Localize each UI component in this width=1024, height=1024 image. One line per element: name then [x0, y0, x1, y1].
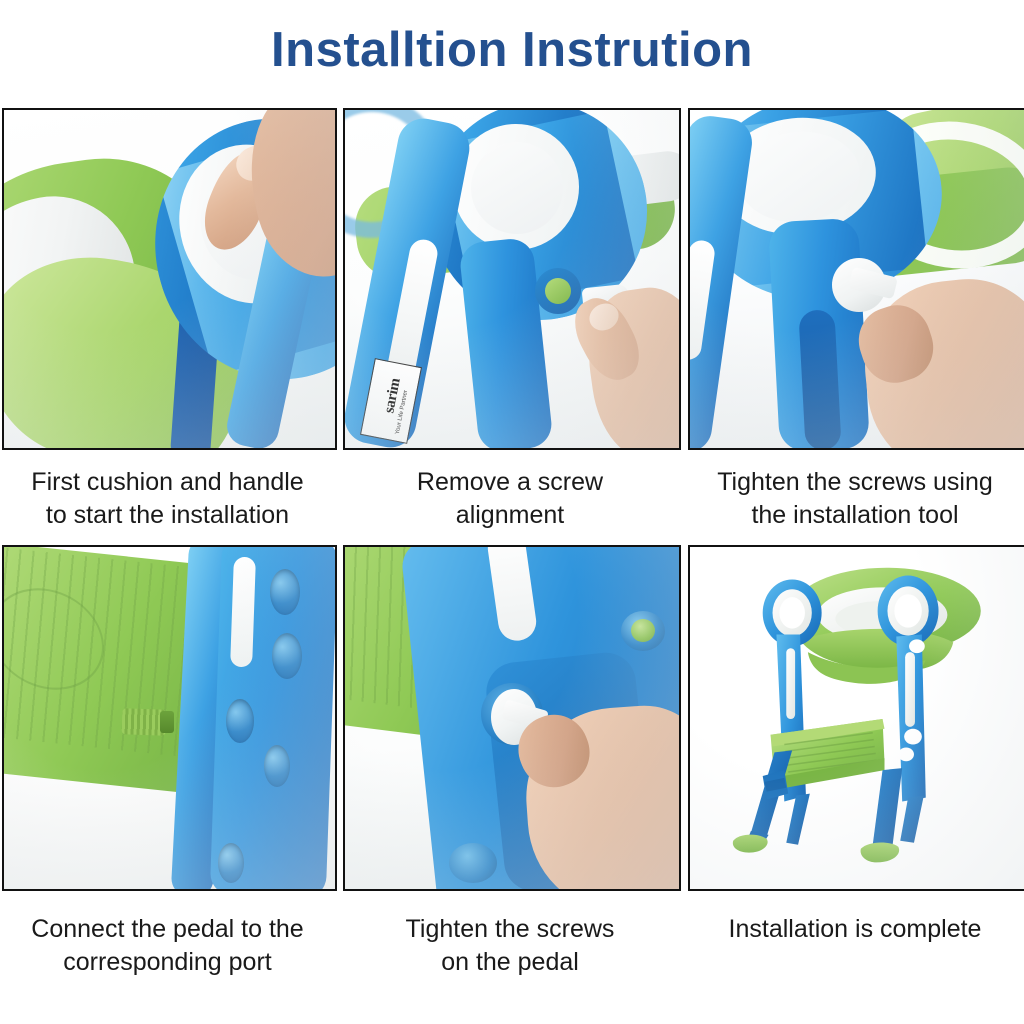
step-4-photo [2, 545, 337, 891]
mounting-port [270, 569, 300, 615]
step-6-caption: Installation is complete [688, 913, 1022, 946]
steps-row-1: First cushion and handle to start the in… [0, 108, 1024, 532]
page-title: Installtion Instrution [0, 0, 1024, 75]
step-6: Installation is complete [682, 545, 1024, 979]
step-3: Tighten the screws using the installatio… [682, 108, 1024, 532]
mounting-port [272, 633, 302, 679]
step-3-caption: Tighten the screws using the installatio… [688, 466, 1022, 532]
screw-port [449, 843, 497, 883]
step-5-caption-line-1: Tighten the screws [353, 913, 667, 946]
mounting-port [226, 699, 254, 743]
step-3-caption-line-2: the installation tool [698, 499, 1012, 532]
step-3-photo [688, 108, 1024, 450]
steps-row-2: Connect the pedal to the corresponding p… [0, 545, 1024, 979]
white-leg-groove [230, 557, 256, 668]
step-5-photo [343, 545, 681, 891]
steps-grid: First cushion and handle to start the in… [0, 108, 1024, 979]
step-2-caption-line-1: Remove a screw [353, 466, 667, 499]
assembled-product-illustration [690, 547, 1024, 889]
step-5-caption-line-2: on the pedal [353, 946, 667, 979]
step-1-caption-line-2: to start the installation [12, 499, 323, 532]
green-grommet [631, 619, 655, 642]
step-2: sarim Your Life Partner Remove a screw a… [336, 108, 682, 532]
step-2-caption-line-2: alignment [353, 499, 667, 532]
step-6-photo [688, 545, 1024, 891]
step-5-caption: Tighten the screws on the pedal [343, 913, 677, 979]
step-2-photo: sarim Your Life Partner [343, 108, 681, 450]
blue-bar-groove [798, 309, 841, 450]
step-4-caption-line-2: corresponding port [12, 946, 323, 979]
step-4: Connect the pedal to the corresponding p… [0, 545, 336, 979]
step-5: Tighten the screws on the pedal [336, 545, 682, 979]
step-1-photo [2, 108, 337, 450]
step-1: First cushion and handle to start the in… [0, 108, 336, 532]
threaded-peg-tip [160, 711, 174, 733]
step-3-caption-line-1: Tighten the screws using [698, 466, 1012, 499]
mounting-port [218, 843, 244, 883]
step-2-caption: Remove a screw alignment [343, 466, 677, 532]
step-4-caption: Connect the pedal to the corresponding p… [2, 913, 333, 979]
step-1-caption-line-1: First cushion and handle [12, 466, 323, 499]
step-6-caption-line-1: Installation is complete [698, 913, 1012, 946]
step-1-caption: First cushion and handle to start the in… [2, 466, 333, 532]
mounting-port [264, 745, 290, 787]
green-pivot-button [545, 278, 571, 304]
step-4-caption-line-1: Connect the pedal to the [12, 913, 323, 946]
